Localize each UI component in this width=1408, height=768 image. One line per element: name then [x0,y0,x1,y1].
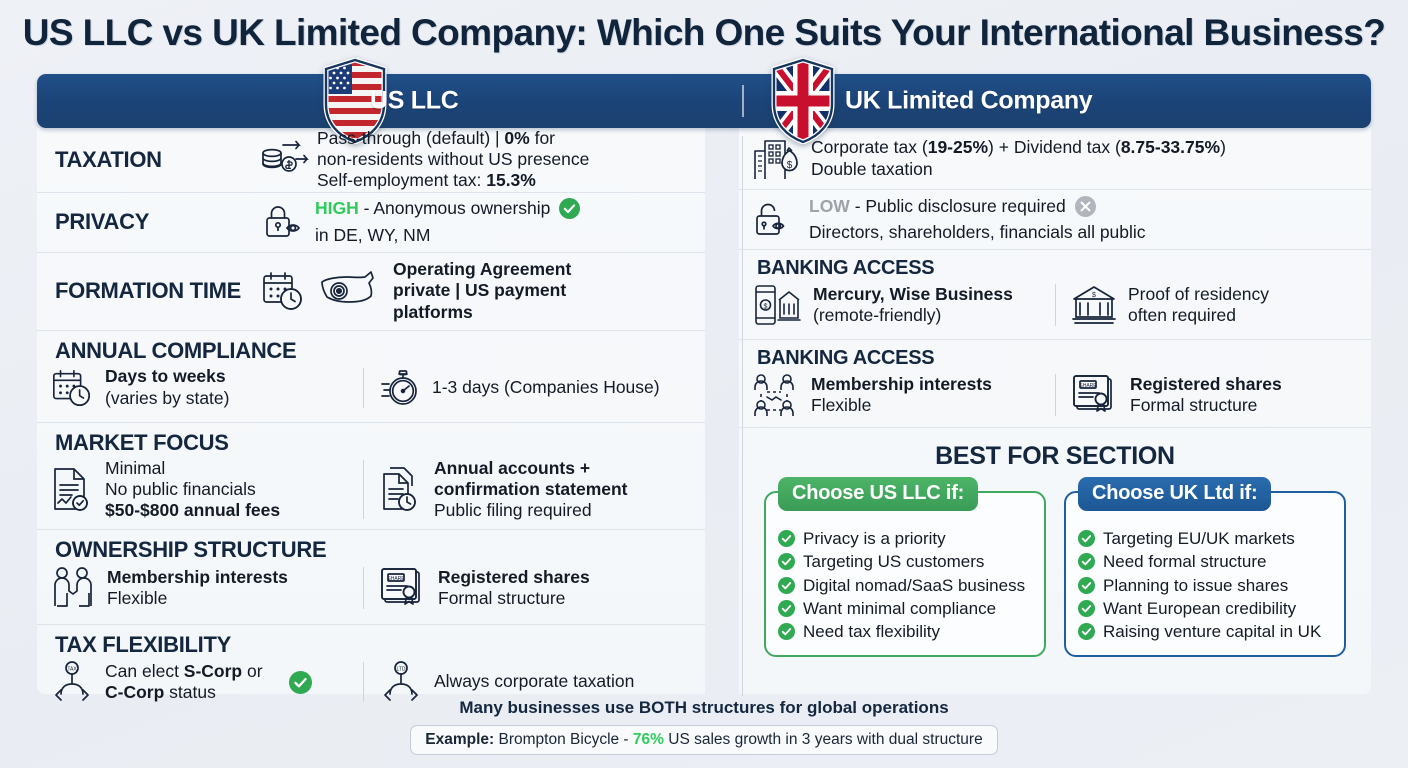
svg-text:$: $ [764,304,768,311]
formation-line-1: Operating Agreement [393,259,571,279]
panel-header-bar: US LLC UK Limited Company [37,74,1371,128]
privacy-text: HIGH - Anonymous ownership in DE, WY, NM [315,198,580,245]
footer-example-before: Brompton Bicycle - [494,731,633,748]
mf-us-line-2: No public financials [105,479,256,499]
best-for-section: BEST FOR SECTION Choose US LLC if: Priva… [739,442,1371,657]
mobile-bank-icon: $ [751,282,803,328]
svg-text:SHARE: SHARE [1079,383,1097,389]
os-uk-line-1: Registered shares [438,567,590,587]
row-label-taxation: TAXATION [49,147,259,173]
uk-tax-line-1: Corporate tax (19-25%) + Dividend tax (8… [811,137,1226,157]
formation-line-3: platforms [393,302,473,322]
svg-text:TAX: TAX [67,667,77,673]
uk-privacy-line-2: Directors, shareholders, financials all … [809,222,1146,242]
footer: Many businesses use BOTH structures for … [0,698,1408,755]
uk-ltd-criteria-list: Targeting EU/UK markets Need formal stru… [1078,527,1332,643]
check-circle-green-icon [1078,623,1095,640]
tf-us-line-1: Can elect S-Corp or [105,661,263,681]
bank-us-line-1: Mercury, Wise Business [813,284,1013,304]
privacy-line-2: in DE, WY, NM [315,225,430,245]
svg-text:$: $ [1092,292,1096,299]
list-item-label: Targeting US customers [803,550,984,573]
shares-uk2-text: Registered shares Formal structure [1130,374,1282,416]
os-us-line-1: Membership interests [107,567,288,587]
check-circle-green-icon [778,530,795,547]
banking-us-text: Mercury, Wise Business (remote-friendly) [813,284,1013,326]
inner-divider [363,567,364,609]
os2-line-2: Flexible [811,395,871,415]
best-for-heading: BEST FOR SECTION [739,442,1371,471]
network-people-icon [751,372,801,418]
tax-flex-us-text: Can elect S-Corp or C-Corp status [105,661,263,703]
uk-taxation-text: Corporate tax (19-25%) + Dividend tax (8… [811,137,1226,179]
mf-uk-line-3: Public filing required [434,500,592,520]
share-certificate-icon: SHARE [378,565,428,611]
formation-line-2: private | US payment [393,280,566,300]
annual-compliance-uk-text: 1-3 days (Companies House) [432,377,660,398]
footer-example-label: Example: [425,731,494,748]
market-focus-us-text: Minimal No public financials $50-$800 an… [105,458,280,522]
mf-us-line-3: $50-$800 annual fees [105,500,280,520]
row-annual-compliance: ANNUAL COMPLIANCE Days to weeks (varie [37,331,705,423]
privacy-status: HIGH [315,198,359,218]
us-llc-criteria-list: Privacy is a priority Targeting US custo… [778,527,1032,643]
row-formation-time: FORMATION TIME Operating Agreement priva… [37,253,705,331]
inner-divider [363,662,364,702]
list-item-label: Targeting EU/UK markets [1103,527,1295,550]
inner-divider [1055,374,1056,416]
list-item: Privacy is a priority [778,527,1032,550]
lock-eye-icon [259,201,309,243]
tf-uk-line-1: Always corporate taxation [434,671,634,691]
list-item-label: Want European credibility [1103,597,1296,620]
uk-privacy-text: LOW - Public disclosure required Directo… [809,196,1146,243]
sh2-line-2: Formal structure [1130,395,1257,415]
svg-text:LTD: LTD [396,667,405,673]
list-item: Raising venture capital in UK [1078,620,1332,643]
mf-uk-line-2: confirmation statement [434,479,628,499]
row-banking-access: BANKING ACCESS $ Mercury, Wise Business … [739,250,1371,340]
header-divider [742,85,744,117]
check-circle-green-icon [778,600,795,617]
coins-arrows-icon [259,137,311,183]
inner-divider [363,460,364,520]
row-label-annual-compliance: ANNUAL COMPLIANCE [49,338,693,364]
list-item-label: Planning to issue shares [1103,574,1288,597]
check-circle-green-icon [289,671,312,694]
footer-example-after: US sales growth in 3 years with dual str… [664,731,983,748]
list-item: Digital nomad/SaaS business [778,574,1032,597]
row-label-banking-access-2: BANKING ACCESS [751,347,1359,370]
os-us-line-2: Flexible [107,588,167,608]
footer-example-stat: 76% [633,731,664,748]
comparison-panel: US LLC UK Limited Company TAXATION [37,74,1371,694]
list-item: Targeting EU/UK markets [1078,527,1332,550]
ac-uk-line-1: 1-3 days (Companies House) [432,377,660,397]
handshake-people-icon [49,565,97,611]
office-money-bag-icon: $ [751,135,803,183]
taxation-line-3: Self-employment tax: 15.3% [317,170,536,190]
mf-us-line-1: Minimal [105,458,165,478]
inner-divider [1055,284,1056,326]
row-banking-access-2: BANKING ACCESS Membership interests [739,340,1371,428]
row-label-market-focus: MARKET FOCUS [49,430,693,456]
x-circle-gray-icon [1075,196,1096,217]
row-uk-privacy: LOW - Public disclosure required Directo… [739,190,1371,250]
os-uk-line-2: Formal structure [438,588,565,608]
bank-us-line-2: (remote-friendly) [813,305,941,325]
tax-flex-uk-text: Always corporate taxation [434,671,634,692]
sh2-line-1: Registered shares [1130,374,1282,394]
row-market-focus: MARKET FOCUS Minimal No public financi [37,423,705,531]
inner-divider [363,368,364,408]
list-item: Want minimal compliance [778,597,1032,620]
list-item-label: Digital nomad/SaaS business [803,574,1025,597]
list-item: Need formal structure [1078,550,1332,573]
os2-line-1: Membership interests [811,374,992,394]
list-item-label: Need formal structure [1103,550,1266,573]
row-taxation: TAXATION Pass-through (default) | 0% for… [37,128,705,193]
unlocked-eye-icon [751,198,801,242]
list-item: Targeting US customers [778,550,1032,573]
row-uk-taxation: $ Corporate tax (19-25%) + Dividend tax … [739,128,1371,190]
list-item-label: Need tax flexibility [803,620,940,643]
document-check-icon [49,465,95,513]
row-ownership-structure: OWNERSHIP STRUCTURE Membership interests [37,530,705,625]
card-tab-uk-ltd: Choose UK Ltd if: [1078,477,1271,511]
row-label-ownership-structure: OWNERSHIP STRUCTURE [49,537,693,563]
taxation-text: Pass-through (default) | 0% for non-resi… [317,128,589,192]
header-uk-label: UK Limited Company [845,87,1092,116]
check-circle-green-icon [1078,530,1095,547]
mf-uk-line-1: Annual accounts + [434,458,590,478]
formation-time-text: Operating Agreement private | US payment… [393,259,571,323]
banking-uk-text: Proof of residency often required [1128,284,1269,326]
svg-text:$: $ [787,160,793,171]
check-circle-green-icon [1078,577,1095,594]
footer-headline: Many businesses use BOTH structures for … [0,698,1408,718]
check-circle-green-icon [559,198,580,219]
check-circle-green-icon [778,553,795,570]
calendar-clock-icon [49,366,95,410]
list-item-label: Raising venture capital in UK [1103,620,1321,643]
svg-text:SHARE: SHARE [387,576,405,582]
market-focus-uk-text: Annual accounts + confirmation statement… [434,458,628,522]
bank-uk-line-2: often required [1128,305,1236,325]
bank-building-icon: $ [1070,283,1118,327]
page-title: US LLC vs UK Limited Company: Which One … [0,0,1408,51]
share-certificate-icon: SHARE [1070,372,1120,418]
annual-compliance-us-text: Days to weeks (varies by state) [105,366,229,408]
footer-example-pill: Example: Brompton Bicycle - 76% US sales… [410,725,997,755]
column-spacer [705,128,739,694]
calendar-clock-icon [259,268,307,314]
row-label-formation-time: FORMATION TIME [49,278,259,304]
us-map-target-icon [317,268,385,314]
check-circle-green-icon [1078,553,1095,570]
stopwatch-icon [378,366,422,410]
ownership-uk-text: Registered shares Formal structure [438,567,590,609]
check-circle-green-icon [778,577,795,594]
list-item-label: Privacy is a priority [803,527,946,550]
row-privacy: PRIVACY HIGH - Anonymous ownership [37,193,705,253]
card-tab-us-llc: Choose US LLC if: [778,477,978,511]
uk-ltd-column: $ Corporate tax (19-25%) + Dividend tax … [739,128,1371,694]
list-item: Want European credibility [1078,597,1332,620]
documents-clock-icon [378,465,424,513]
list-item: Planning to issue shares [1078,574,1332,597]
ac-us-line-1: Days to weeks [105,366,226,386]
check-circle-green-icon [778,623,795,640]
header-us-label: US LLC [370,87,458,116]
ownership-us-text: Membership interests Flexible [107,567,288,609]
row-label-tax-flexibility: TAX FLEXIBILITY [49,632,693,658]
list-item-label: Want minimal compliance [803,597,996,620]
uk-tax-line-2: Double taxation [811,159,933,179]
bank-uk-line-1: Proof of residency [1128,284,1269,304]
list-item: Need tax flexibility [778,620,1032,643]
taxation-line-2: non-residents without US presence [317,149,589,169]
best-for-card-uk-ltd: Choose UK Ltd if: Targeting EU/UK market… [1064,491,1346,657]
best-for-card-us-llc: Choose US LLC if: Privacy is a priority … [764,491,1046,657]
uk-privacy-status: LOW [809,196,850,216]
us-llc-column: TAXATION Pass-through (default) | 0% for… [37,128,705,694]
ac-us-line-2: (varies by state) [105,388,229,408]
row-label-privacy: PRIVACY [49,209,259,235]
row-label-banking-access: BANKING ACCESS [751,257,1359,280]
check-circle-green-icon [1078,600,1095,617]
taxation-line-1: Pass-through (default) | 0% for [317,128,555,148]
ownership-uk2-text: Membership interests Flexible [811,374,992,416]
